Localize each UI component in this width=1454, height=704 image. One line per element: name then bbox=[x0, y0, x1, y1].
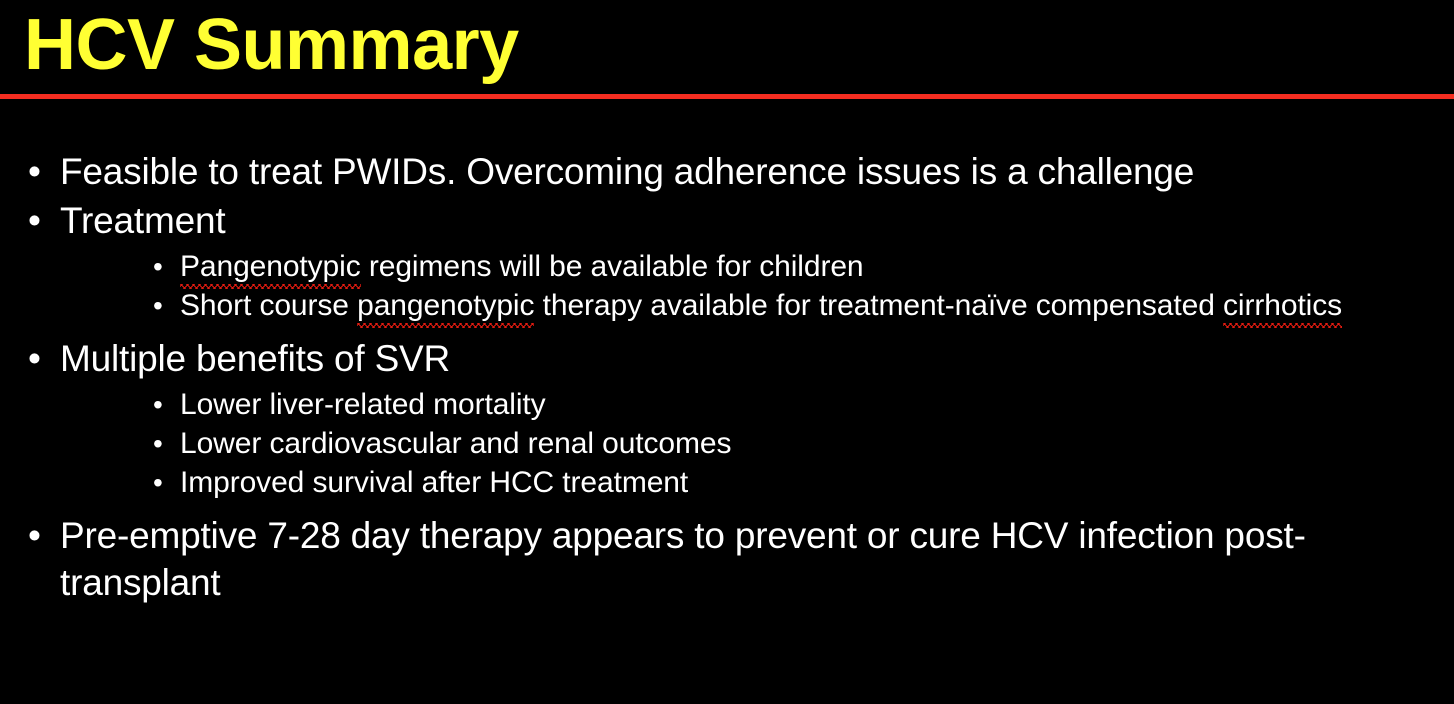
misspelled-word: cirrhotics bbox=[1223, 286, 1342, 325]
list-item-label: Pre-emptive 7-28 day therapy appears to … bbox=[60, 512, 1454, 606]
bullet-dot-icon: • bbox=[153, 463, 163, 502]
list-item-label: Short course pangenotypic therapy availa… bbox=[180, 286, 1454, 325]
list-item-label: Multiple benefits of SVR bbox=[60, 335, 1454, 382]
slide-title-area: HCV Summary bbox=[0, 0, 1454, 96]
list-item: • Treatment • Pangenotypic regimens will… bbox=[0, 197, 1454, 325]
list-item-label-part: therapy available for treatment-naïve co… bbox=[534, 289, 1223, 322]
list-item-label-rest: regimens will be available for children bbox=[361, 250, 864, 283]
bullet-list-level2: • Lower liver-related mortality • Lower … bbox=[60, 385, 1454, 502]
bullet-dot-icon: • bbox=[153, 424, 163, 463]
bullet-dot-icon: • bbox=[28, 197, 42, 244]
slide-canvas: HCV Summary • Feasible to treat PWIDs. O… bbox=[0, 0, 1454, 704]
list-item: • Lower liver-related mortality bbox=[60, 385, 1454, 424]
list-item-label-part: Short course bbox=[180, 289, 357, 322]
list-item: • Short course pangenotypic therapy avai… bbox=[60, 286, 1454, 325]
list-item-label: Treatment bbox=[60, 197, 1454, 244]
list-item-label: Lower cardiovascular and renal outcomes bbox=[180, 424, 1454, 463]
list-item: • Multiple benefits of SVR • Lower liver… bbox=[0, 335, 1454, 502]
list-item-label: Pangenotypic regimens will be available … bbox=[180, 247, 1454, 286]
list-item: • Pangenotypic regimens will be availabl… bbox=[60, 247, 1454, 286]
bullet-dot-icon: • bbox=[28, 148, 42, 195]
misspelled-word: Pangenotypic bbox=[180, 247, 361, 286]
list-item: • Lower cardiovascular and renal outcome… bbox=[60, 424, 1454, 463]
title-divider-rule bbox=[0, 94, 1454, 99]
page-title: HCV Summary bbox=[24, 2, 519, 88]
bullet-list-level2: • Pangenotypic regimens will be availabl… bbox=[60, 247, 1454, 325]
list-item: • Feasible to treat PWIDs. Overcoming ad… bbox=[0, 148, 1454, 195]
bullet-dot-icon: • bbox=[153, 385, 163, 424]
slide-body: • Feasible to treat PWIDs. Overcoming ad… bbox=[0, 104, 1454, 704]
bullet-list-level1: • Feasible to treat PWIDs. Overcoming ad… bbox=[0, 148, 1454, 606]
bullet-dot-icon: • bbox=[153, 247, 163, 286]
list-item-label: Lower liver-related mortality bbox=[180, 385, 1454, 424]
misspelled-word: pangenotypic bbox=[357, 286, 534, 325]
list-item: • Pre-emptive 7-28 day therapy appears t… bbox=[0, 512, 1454, 606]
list-item-label: Feasible to treat PWIDs. Overcoming adhe… bbox=[60, 148, 1454, 195]
list-item-label: Improved survival after HCC treatment bbox=[180, 463, 1454, 502]
bullet-dot-icon: • bbox=[28, 335, 42, 382]
bullet-dot-icon: • bbox=[28, 512, 42, 559]
list-item: • Improved survival after HCC treatment bbox=[60, 463, 1454, 502]
bullet-dot-icon: • bbox=[153, 286, 163, 325]
